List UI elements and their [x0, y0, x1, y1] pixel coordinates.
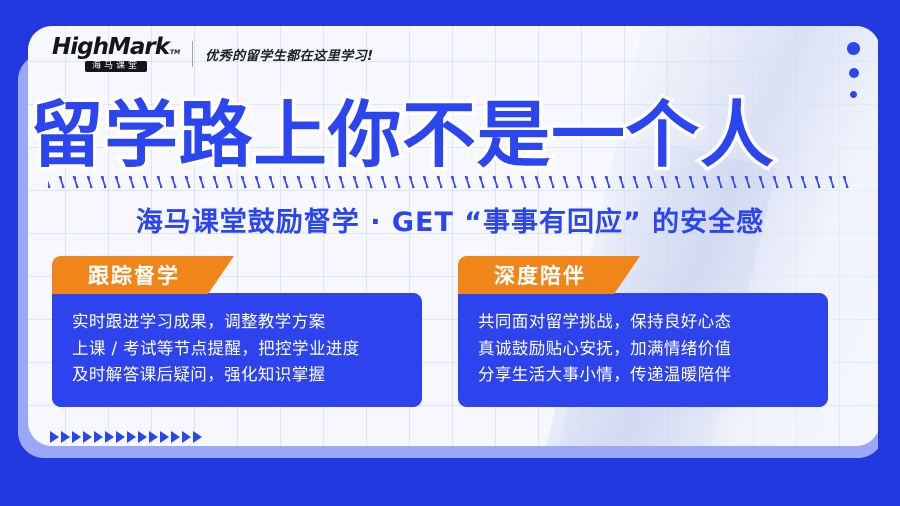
brand-tagline: 优秀的留学生都在这里学习!: [205, 45, 373, 64]
card-line: 及时解答课后疑问，强化知识掌握: [72, 362, 402, 389]
logo-wordmark: HighMark TM: [52, 36, 180, 59]
card-line: 共同面对留学挑战，保持良好心态: [478, 309, 808, 336]
card-line: 分享生活大事小情，传递温暖陪伴: [478, 362, 808, 389]
headline: 留学路上你不是一个人: [30, 76, 887, 181]
card-title: 深度陪伴: [494, 260, 604, 290]
arrow-right-icon: [50, 431, 59, 443]
arrow-right-icon: [94, 431, 103, 443]
brand-row: HighMark TM 海马课堂 优秀的留学生都在这里学习!: [52, 36, 374, 72]
trademark-icon: TM: [170, 50, 180, 56]
arrow-right-icon: [193, 431, 202, 443]
arrow-right-icon: [182, 431, 191, 443]
card-line: 上课 / 考试等节点提醒，把控学业进度: [72, 336, 402, 363]
vertical-divider: [192, 41, 193, 67]
dashed-divider: [48, 176, 854, 188]
arrow-strip: [50, 431, 202, 443]
arrow-right-icon: [149, 431, 158, 443]
arrow-right-icon: [116, 431, 125, 443]
card-body: 实时跟进学习成果，调整教学方案 上课 / 考试等节点提醒，把控学业进度 及时解答…: [52, 293, 422, 407]
logo-wordmark-text: HighMark: [52, 36, 169, 59]
card-header: 深度陪伴: [458, 256, 640, 294]
card-title: 跟踪督学: [88, 260, 198, 290]
dot-icon-large: [847, 42, 860, 55]
feature-card-tracking: 跟踪督学 实时跟进学习成果，调整教学方案 上课 / 考试等节点提醒，把控学业进度…: [52, 256, 422, 407]
logo-chinese-name: 海马课堂: [85, 61, 147, 72]
arrow-right-icon: [72, 431, 81, 443]
arrow-right-icon: [160, 431, 169, 443]
arrow-right-icon: [61, 431, 70, 443]
subtitle: 海马课堂鼓励督学 · GET “事事有回应” 的安全感: [136, 200, 764, 239]
card-line: 实时跟进学习成果，调整教学方案: [72, 309, 402, 336]
arrow-right-icon: [105, 431, 114, 443]
arrow-right-icon: [138, 431, 147, 443]
logo: HighMark TM 海马课堂: [52, 36, 180, 72]
card-header: 跟踪督学: [52, 256, 234, 294]
card-body: 共同面对留学挑战，保持良好心态 真诚鼓励贴心安抚，加满情绪价值 分享生活大事小情…: [458, 293, 828, 407]
card-line: 真诚鼓励贴心安抚，加满情绪价值: [478, 336, 808, 363]
feature-card-companionship: 深度陪伴 共同面对留学挑战，保持良好心态 真诚鼓励贴心安抚，加满情绪价值 分享生…: [458, 256, 828, 407]
poster-canvas: HighMark TM 海马课堂 优秀的留学生都在这里学习! 留学路上你不是一个…: [0, 0, 900, 506]
arrow-right-icon: [171, 431, 180, 443]
arrow-right-icon: [83, 431, 92, 443]
arrow-right-icon: [127, 431, 136, 443]
